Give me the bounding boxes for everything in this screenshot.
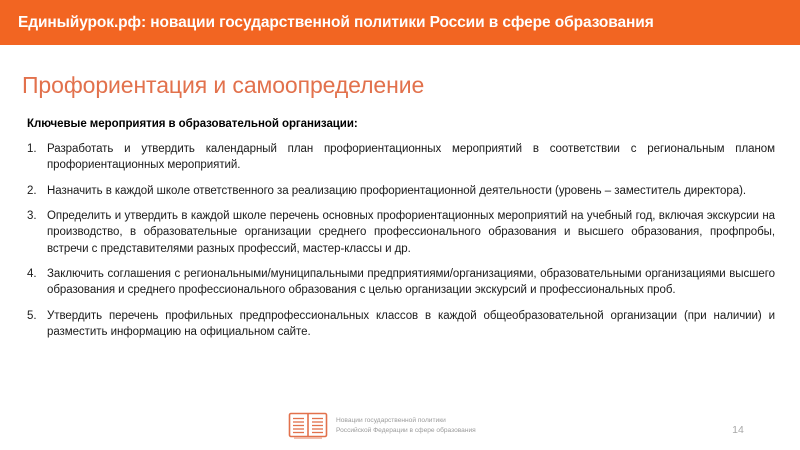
lead-in-heading: Ключевые мероприятия в образовательной о… <box>27 118 775 130</box>
list-item-number: 1. <box>27 141 47 157</box>
footer-logo: Новации государственной политики Российс… <box>288 412 476 440</box>
list-item: 2. Назначить в каждой школе ответственно… <box>27 183 775 199</box>
footer-caption: Новации государственной политики Российс… <box>336 416 476 436</box>
list-item-number: 5. <box>27 308 47 324</box>
list-item: 1. Разработать и утвердить календарный п… <box>27 141 775 174</box>
list-item-number: 4. <box>27 266 47 282</box>
page-title: Профориентация и самоопределение <box>22 72 424 99</box>
header-title: Единыйурок.рф: новации государственной п… <box>0 14 654 32</box>
list-item-text: Утвердить перечень профильных предпрофес… <box>47 308 775 341</box>
list-item-text: Разработать и утвердить календарный план… <box>47 141 775 174</box>
content-body: Ключевые мероприятия в образовательной о… <box>27 118 775 349</box>
list-item-text: Заключить соглашения с региональными/мун… <box>47 266 775 299</box>
list-item-text: Назначить в каждой школе ответственного … <box>47 183 775 199</box>
footer-caption-line-1: Новации государственной политики <box>336 416 476 426</box>
list-item-number: 3. <box>27 208 47 224</box>
list-item: 4. Заключить соглашения с региональными/… <box>27 266 775 299</box>
open-book-icon <box>288 412 328 440</box>
list-item-number: 2. <box>27 183 47 199</box>
list-item: 3. Определить и утвердить в каждой школе… <box>27 208 775 257</box>
header-banner: Единыйурок.рф: новации государственной п… <box>0 0 800 45</box>
page-number: 14 <box>718 424 758 436</box>
list-item: 5. Утвердить перечень профильных предпро… <box>27 308 775 341</box>
footer-caption-line-2: Российской Федерации в сфере образования <box>336 426 476 436</box>
footer: Новации государственной политики Российс… <box>0 410 800 450</box>
list-item-text: Определить и утвердить в каждой школе пе… <box>47 208 775 257</box>
